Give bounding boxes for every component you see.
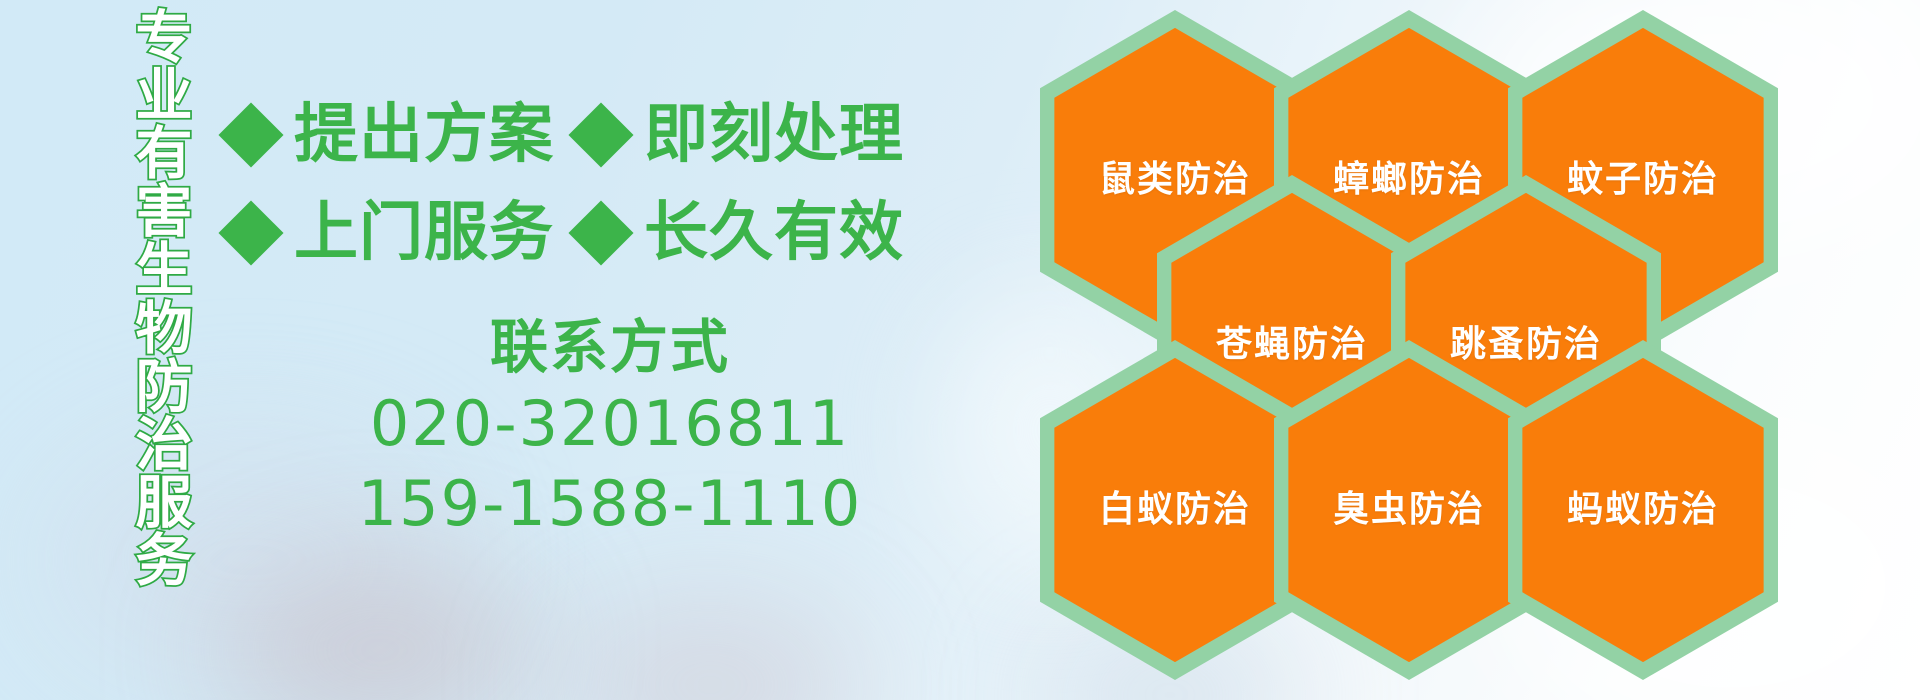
vertical-headline-char: 务	[136, 533, 193, 590]
diamond-bullet-icon	[218, 102, 283, 167]
contact-heading: 联系方式	[300, 310, 920, 384]
service-label: 白蚁防治	[1040, 492, 1310, 528]
contact-block: 联系方式 020-32016811 159-1588-1110	[300, 310, 920, 543]
promo-banner: 专 业 有 害 生 物 防 治 服 务 提出方案 即刻处理 上门服务 长久有效 …	[0, 0, 1920, 700]
contact-phone-landline[interactable]: 020-32016811	[300, 384, 920, 463]
vertical-headline-char: 有	[136, 126, 193, 183]
slogan-row: 提出方案 即刻处理	[228, 86, 928, 184]
diamond-bullet-icon	[568, 102, 633, 167]
service-hexagon-grid: 鼠类防治 蟑螂防治 蚊子防治 苍蝇防治 跳蚤防治 白蚁防治	[1040, 0, 1840, 700]
service-hexagon[interactable]: 蚂蚁防治	[1508, 340, 1778, 680]
service-hexagon[interactable]: 臭虫防治	[1274, 340, 1544, 680]
vertical-headline-char: 专	[136, 10, 193, 67]
vertical-headline-char: 治	[136, 417, 193, 474]
slogan-label: 提出方案	[294, 103, 554, 167]
vertical-headline: 专 业 有 害 生 物 防 治 服 务	[112, 10, 216, 590]
service-label: 蟑螂防治	[1274, 162, 1544, 198]
service-label: 苍蝇防治	[1157, 327, 1427, 363]
service-label: 鼠类防治	[1040, 162, 1310, 198]
slogan-row: 上门服务 长久有效	[228, 184, 928, 282]
background-blur-blob	[560, 600, 860, 700]
diamond-bullet-icon	[568, 200, 633, 265]
vertical-headline-char: 业	[136, 68, 193, 125]
service-hexagon[interactable]: 白蚁防治	[1040, 340, 1310, 680]
service-label: 跳蚤防治	[1391, 327, 1661, 363]
diamond-bullet-icon	[218, 200, 283, 265]
service-label: 臭虫防治	[1274, 492, 1544, 528]
vertical-headline-char: 物	[136, 301, 193, 358]
slogan-label: 上门服务	[294, 201, 554, 265]
vertical-headline-char: 服	[136, 475, 193, 532]
service-label: 蚂蚁防治	[1508, 492, 1778, 528]
slogan-label: 即刻处理	[644, 103, 904, 167]
background-blur-blob	[220, 560, 540, 700]
contact-phone-mobile[interactable]: 159-1588-1110	[300, 464, 920, 543]
slogan-list: 提出方案 即刻处理 上门服务 长久有效	[228, 86, 928, 282]
slogan-label: 长久有效	[644, 201, 904, 265]
vertical-headline-char: 害	[136, 184, 193, 241]
vertical-headline-char: 生	[136, 242, 193, 299]
service-label: 蚊子防治	[1508, 162, 1778, 198]
vertical-headline-char: 防	[136, 359, 193, 416]
